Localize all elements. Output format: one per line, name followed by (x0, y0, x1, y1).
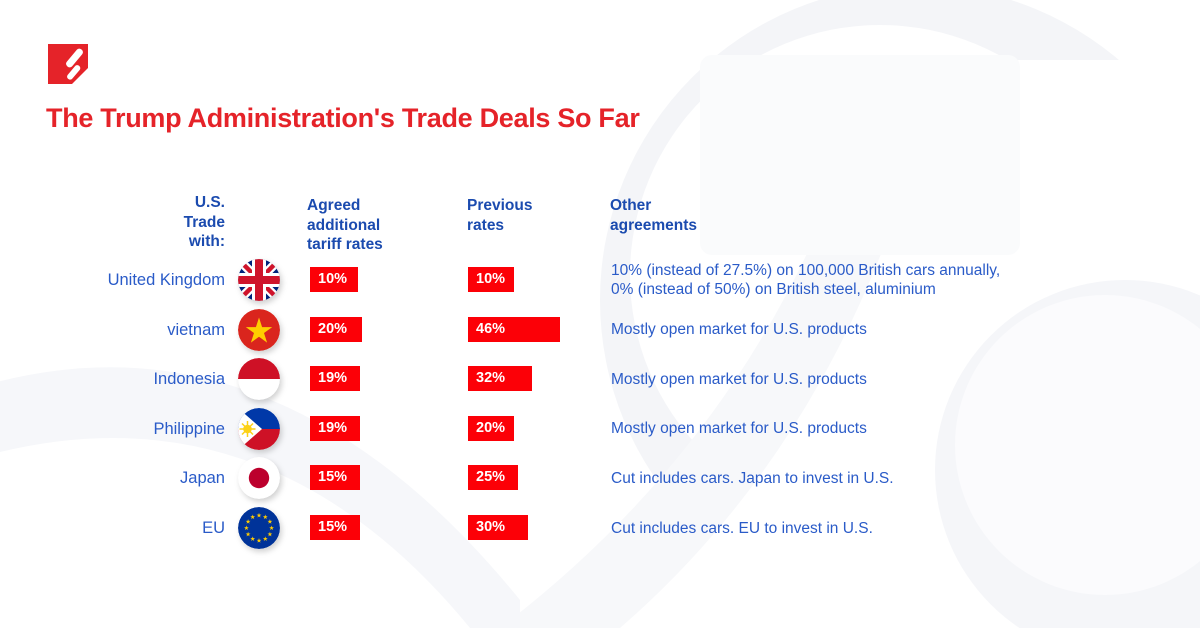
table-row: Japan 15% 25% Cut includes cars. Japan t… (0, 453, 1200, 503)
other-agreements-cell: Mostly open market for U.S. products (611, 404, 1131, 454)
agreed-tariff-bar: 19% (310, 366, 360, 391)
previous-rate-bar: 30% (468, 515, 528, 540)
previous-rate-bar: 10% (468, 267, 514, 292)
flag-vietnam-icon (238, 309, 280, 351)
column-header-agreed-line3: tariff rates (307, 235, 437, 255)
column-header-other-line2: agreements (610, 216, 1010, 236)
table-row: United Kingdom 10% 10% 10% (instead of 2… (0, 255, 1200, 305)
country-label: Philippine (40, 404, 225, 454)
previous-rate-bar: 46% (468, 317, 560, 342)
country-label: EU (40, 503, 225, 553)
column-header-previous-line2: rates (467, 216, 597, 236)
column-header-previous-line1: Previous (467, 196, 597, 216)
agreed-tariff-bar: 10% (310, 267, 358, 292)
other-agreements-line1: Mostly open market for U.S. products (611, 320, 1131, 339)
flag-european-union-icon (238, 507, 280, 549)
flag-japan-icon (238, 457, 280, 499)
column-header-other-line1: Other (610, 196, 1010, 216)
column-header-agreed-line2: additional (307, 216, 437, 236)
previous-rate-bar: 20% (468, 416, 514, 441)
table-row: Philippine 19% 20% Mostly open market fo… (0, 404, 1200, 454)
agreed-tariff-bar: 19% (310, 416, 360, 441)
column-header-country-line3: with: (60, 232, 225, 252)
agreed-tariff-bar: 15% (310, 465, 360, 490)
other-agreements-cell: Cut includes cars. Japan to invest in U.… (611, 453, 1131, 503)
other-agreements-line2: 0% (instead of 50%) on British steel, al… (611, 280, 1131, 299)
column-header-country-line1: U.S. (60, 193, 225, 213)
table-row: vietnam 20% 46% Mostly open market for U… (0, 305, 1200, 355)
other-agreements-cell: Mostly open market for U.S. products (611, 305, 1131, 355)
agreed-tariff-bar: 15% (310, 515, 360, 540)
table-row: Indonesia 19% 32% Mostly open market for… (0, 354, 1200, 404)
column-header-country-line2: Trade (60, 213, 225, 233)
table-row: EU 15% 30% Cut includes cars. EU to inve… (0, 503, 1200, 553)
country-label: United Kingdom (40, 255, 225, 305)
country-label: vietnam (40, 305, 225, 355)
previous-rate-bar: 25% (468, 465, 518, 490)
country-label: Japan (40, 453, 225, 503)
other-agreements-line1: Mostly open market for U.S. products (611, 370, 1131, 389)
column-header-other-agreements: Other agreements (610, 196, 1010, 235)
other-agreements-cell: Cut includes cars. EU to invest in U.S. (611, 503, 1131, 553)
other-agreements-cell: 10% (instead of 27.5%) on 100,000 Britis… (611, 255, 1131, 305)
previous-rate-bar: 32% (468, 366, 532, 391)
other-agreements-line1: Cut includes cars. Japan to invest in U.… (611, 469, 1131, 488)
column-header-previous-rates: Previous rates (467, 196, 597, 235)
flag-philippines-icon (238, 408, 280, 450)
other-agreements-line1: Mostly open market for U.S. products (611, 419, 1131, 438)
country-label: Indonesia (40, 354, 225, 404)
other-agreements-cell: Mostly open market for U.S. products (611, 354, 1131, 404)
flag-united-kingdom-icon (238, 259, 280, 301)
column-header-country: U.S. Trade with: (60, 193, 225, 252)
flag-indonesia-icon (238, 358, 280, 400)
other-agreements-line1: Cut includes cars. EU to invest in U.S. (611, 519, 1131, 538)
column-header-agreed-line1: Agreed (307, 196, 437, 216)
column-header-agreed-tariff: Agreed additional tariff rates (307, 196, 437, 255)
agreed-tariff-bar: 20% (310, 317, 362, 342)
trade-deals-table: U.S. Trade with: Agreed additional tarif… (0, 0, 1200, 628)
other-agreements-line1: 10% (instead of 27.5%) on 100,000 Britis… (611, 261, 1131, 280)
